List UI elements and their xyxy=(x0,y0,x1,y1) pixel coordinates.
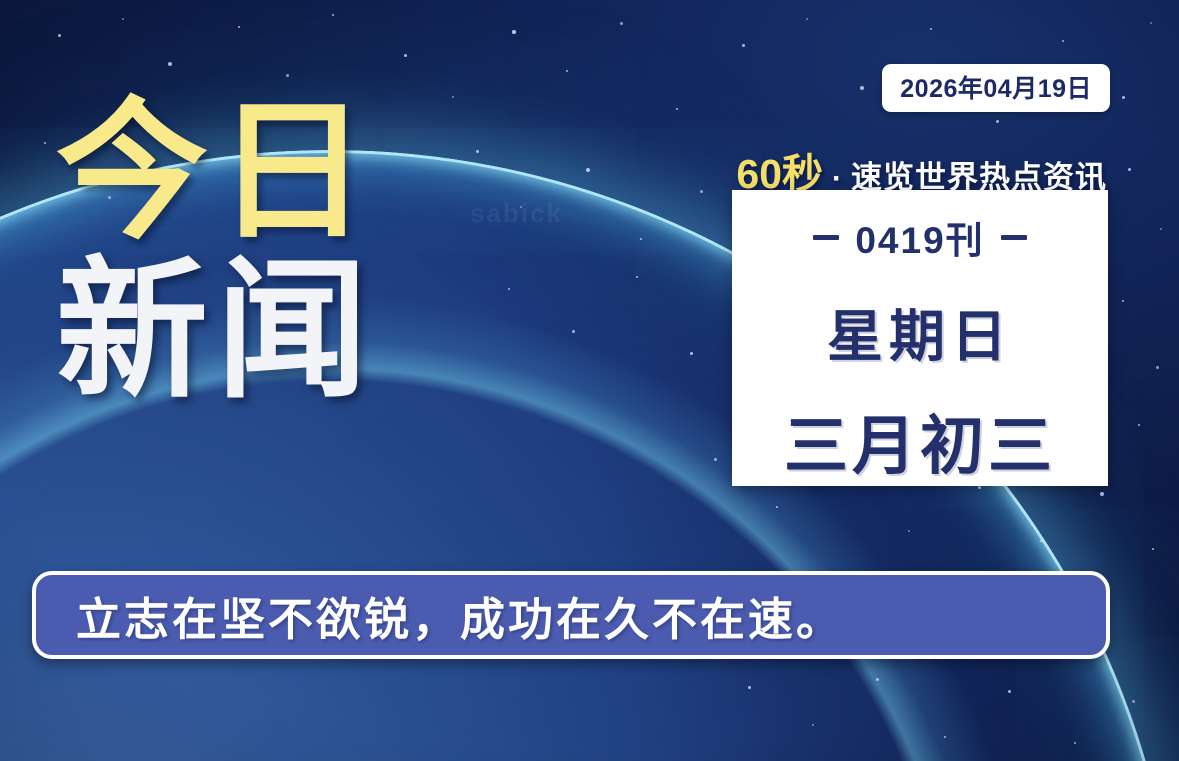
quote-text: 立志在坚不欲锐，成功在久不在速。 xyxy=(36,583,844,648)
info-card: 0419刊 星期日 三月初三 xyxy=(732,190,1108,486)
masthead-line-news: 新闻 xyxy=(56,257,486,406)
dash-right-icon xyxy=(1001,235,1027,240)
masthead: 今日 新闻 xyxy=(56,98,486,406)
masthead-line-today: 今日 xyxy=(56,98,486,247)
issue-number: 0419刊 xyxy=(855,210,984,264)
dash-left-icon xyxy=(813,235,839,240)
issue-row: 0419刊 xyxy=(813,210,1026,264)
news-poster: sabick 今日 新闻 2026年04月19日 60秒 · 速览世界热点资讯 … xyxy=(0,0,1179,761)
weekday-label: 星期日 xyxy=(827,292,1013,373)
date-pill: 2026年04月19日 xyxy=(882,64,1110,112)
lunar-date-label: 三月初三 xyxy=(784,395,1056,487)
quote-banner: 立志在坚不欲锐，成功在久不在速。 xyxy=(32,571,1110,659)
